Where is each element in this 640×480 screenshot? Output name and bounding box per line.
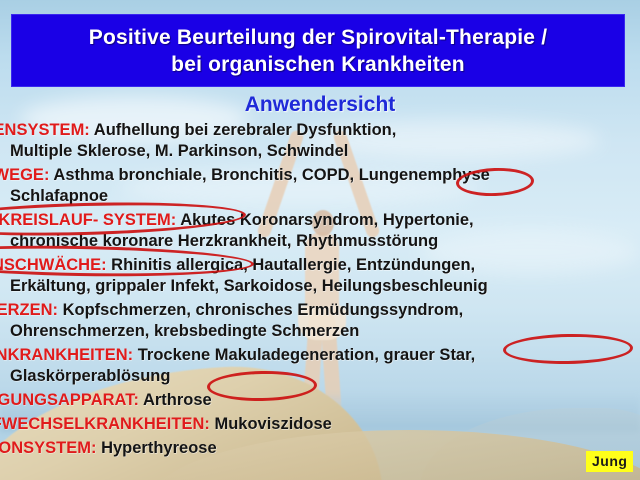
entry-line-secondary: Schlafapnoe (0, 186, 640, 207)
entry-line-primary: IMMUNSCHWÄCHE: Rhinitis allergica, Hauta… (0, 255, 640, 276)
list-item: SCHMERZEN: Kopfschmerzen, chronisches Er… (0, 300, 640, 342)
entry-text: Arthrose (139, 391, 212, 409)
entry-line-primary: STOFFWECHSELKRANKHEITEN: Mukoviszidose (0, 414, 640, 435)
entry-text: Rhinitis allergica, Hautallergie, Entzün… (107, 256, 476, 274)
presentation-slide: Positive Beurteilung der Spirovital-Ther… (0, 0, 640, 480)
entry-line-secondary: chronische koronare Herzkrankheit, Rhyth… (0, 231, 640, 252)
list-item: HERZ-KREISLAUF- SYSTEM: Akutes Koronarsy… (0, 210, 640, 252)
entry-text: Trockene Makuladegeneration, grauer Star… (133, 346, 475, 364)
list-item: STOFFWECHSELKRANKHEITEN: Mukoviszidose (0, 414, 640, 435)
category-label: SCHMERZEN: (0, 301, 58, 319)
entry-line-secondary: Glaskörperablösung (0, 366, 640, 387)
entry-line-secondary: Erkältung, grippaler Infekt, Sarkoidose,… (0, 276, 640, 297)
slide-title-line-2: bei organischen Krankheiten (171, 51, 465, 78)
entry-line-primary: NERVENSYSTEM: Aufhellung bei zerebraler … (0, 120, 640, 141)
list-item: HORMONSYSTEM: Hyperthyreose (0, 438, 640, 459)
entry-line-primary: AUGENKRANKHEITEN: Trockene Makuladegener… (0, 345, 640, 366)
category-label: HERZ-KREISLAUF- SYSTEM: (0, 211, 176, 229)
list-item: IMMUNSCHWÄCHE: Rhinitis allergica, Hauta… (0, 255, 640, 297)
entry-text: Asthma bronchiale, Bronchitis, COPD, Lun… (49, 166, 489, 184)
list-item: NERVENSYSTEM: Aufhellung bei zerebraler … (0, 120, 640, 162)
list-item: BEWEGUNGSAPPARAT: Arthrose (0, 390, 640, 411)
entry-text: Kopfschmerzen, chronisches Ermüdungssynd… (58, 301, 463, 319)
category-label: AUGENKRANKHEITEN: (0, 346, 133, 364)
entry-text: Hyperthyreose (97, 439, 217, 457)
list-item: AUGENKRANKHEITEN: Trockene Makuladegener… (0, 345, 640, 387)
entry-line-secondary: Multiple Sklerose, M. Parkinson, Schwind… (0, 141, 640, 162)
category-label: IMMUNSCHWÄCHE: (0, 256, 107, 274)
slide-title-line-1: Positive Beurteilung der Spirovital-Ther… (89, 24, 547, 51)
entry-text: Aufhellung bei zerebraler Dysfunktion, (90, 121, 397, 139)
entry-line-primary: HERZ-KREISLAUF- SYSTEM: Akutes Koronarsy… (0, 210, 640, 231)
category-label: BEWEGUNGSAPPARAT: (0, 391, 139, 409)
entry-line-primary: HORMONSYSTEM: Hyperthyreose (0, 438, 640, 459)
category-label: ATEMWEGE: (0, 166, 49, 184)
category-label: STOFFWECHSELKRANKHEITEN: (0, 415, 210, 433)
slide-subtitle: Anwendersicht (0, 93, 640, 117)
entry-text: Akutes Koronarsyndrom, Hypertonie, (176, 211, 473, 229)
watermark-badge: Jung (586, 451, 633, 472)
category-label: HORMONSYSTEM: (0, 439, 97, 457)
list-item: ATEMWEGE: Asthma bronchiale, Bronchitis,… (0, 165, 640, 207)
entry-line-primary: SCHMERZEN: Kopfschmerzen, chronisches Er… (0, 300, 640, 321)
entry-line-primary: ATEMWEGE: Asthma bronchiale, Bronchitis,… (0, 165, 640, 186)
slide-title-banner: Positive Beurteilung der Spirovital-Ther… (11, 14, 625, 87)
entry-text: Mukoviszidose (210, 415, 332, 433)
category-label: NERVENSYSTEM: (0, 121, 90, 139)
indication-list: NERVENSYSTEM: Aufhellung bei zerebraler … (0, 120, 640, 462)
entry-line-primary: BEWEGUNGSAPPARAT: Arthrose (0, 390, 640, 411)
entry-line-secondary: Ohrenschmerzen, krebsbedingte Schmerzen (0, 321, 640, 342)
